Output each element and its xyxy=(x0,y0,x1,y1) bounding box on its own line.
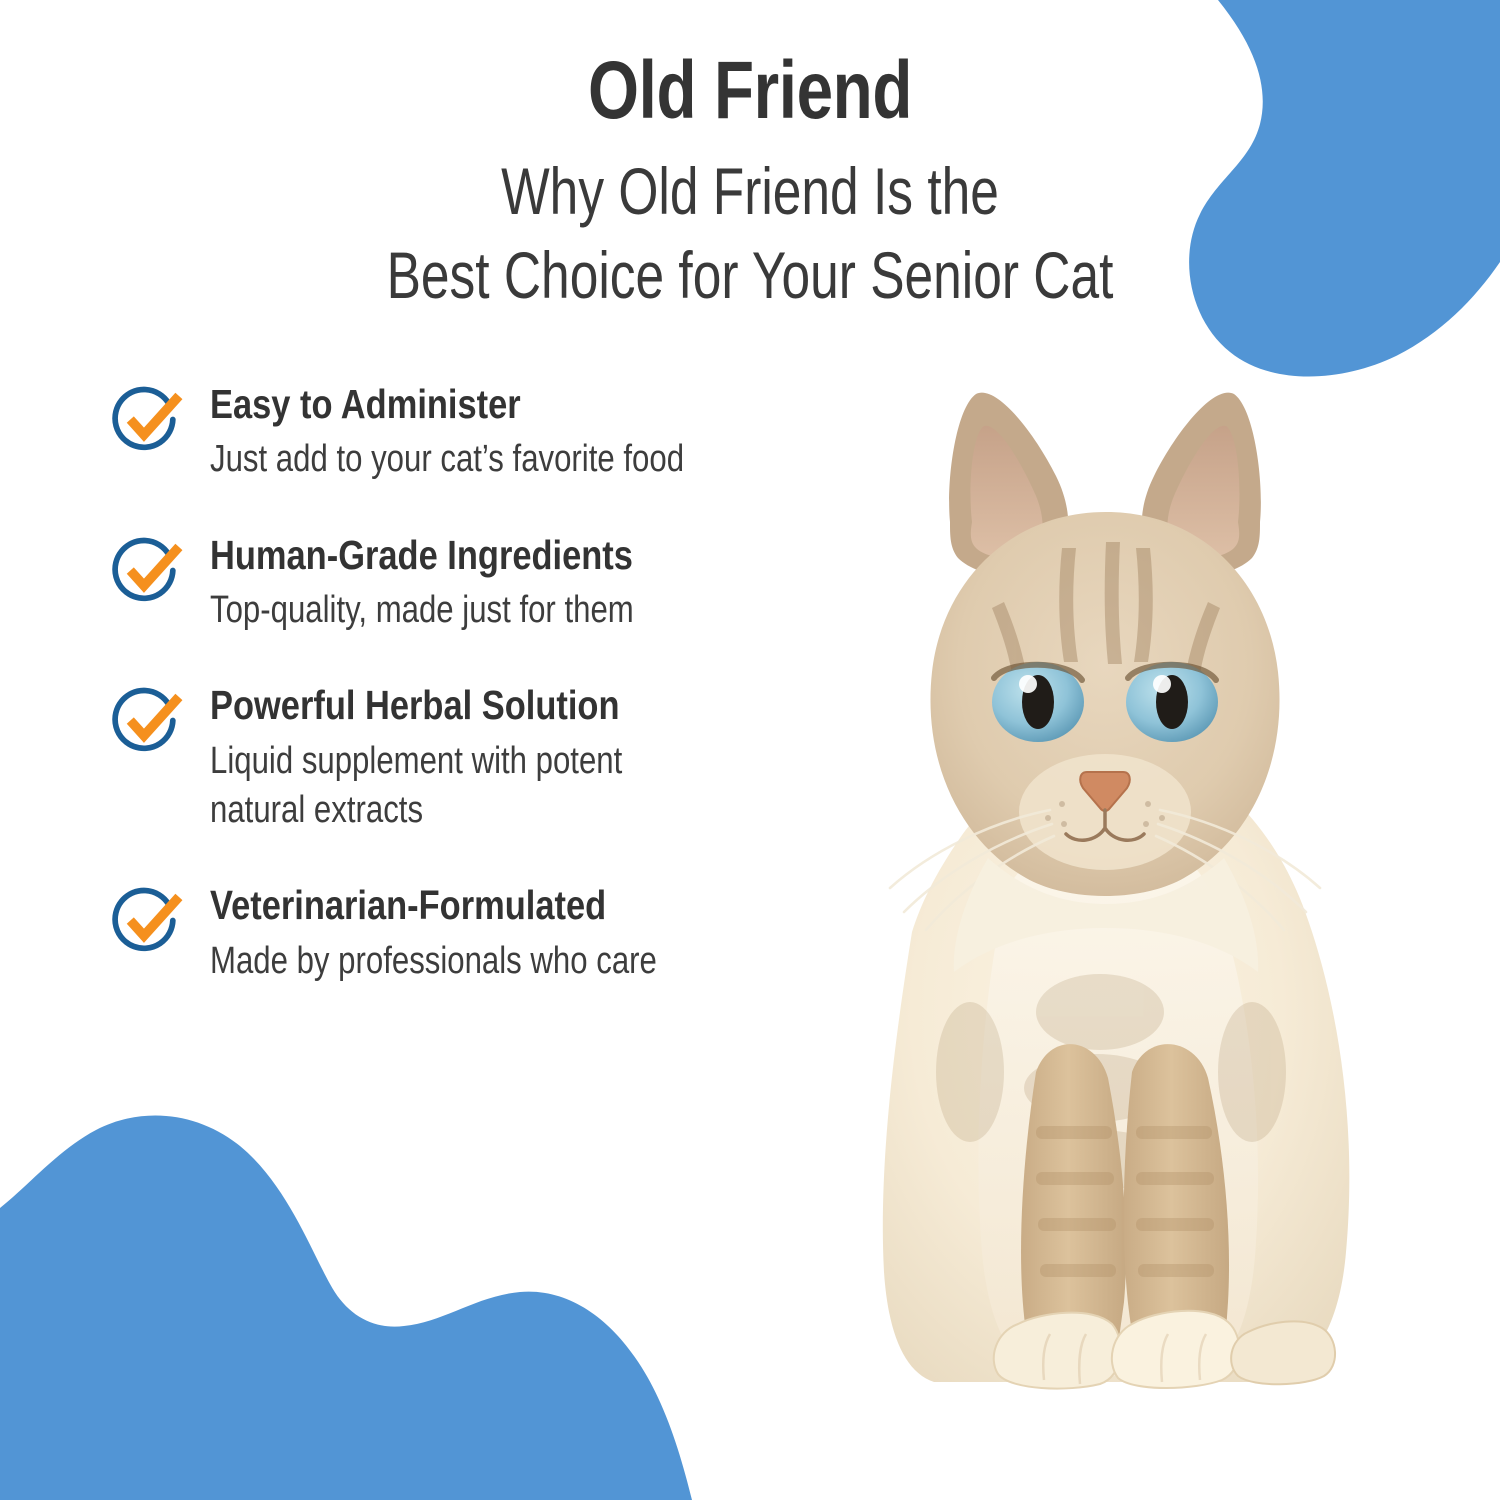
headline: Why Old Friend Is the Best Choice for Yo… xyxy=(165,149,1335,318)
benefit-text: Veterinarian-Formulated Made by professi… xyxy=(210,879,755,986)
cat-eye-right xyxy=(1126,662,1218,742)
check-circle-icon xyxy=(108,681,186,757)
benefit-text: Human-Grade Ingredients Top-quality, mad… xyxy=(210,529,727,636)
benefit-description: Top-quality, made just for them xyxy=(210,586,634,635)
benefit-item: Easy to Administer Just add to your cat’… xyxy=(108,378,808,485)
benefit-description: Just add to your cat’s favorite food xyxy=(210,435,684,484)
headline-line-1: Why Old Friend Is the xyxy=(165,149,1335,233)
brand-title: Old Friend xyxy=(150,52,1350,131)
benefit-title: Easy to Administer xyxy=(210,382,696,426)
benefit-item: Powerful Herbal Solution Liquid suppleme… xyxy=(108,679,808,835)
benefits-list: Easy to Administer Just add to your cat’… xyxy=(108,378,808,986)
bottom-left-blue-blob xyxy=(0,1115,692,1500)
check-circle-icon xyxy=(108,531,186,607)
infographic-canvas: Old Friend Why Old Friend Is the Best Ch… xyxy=(0,0,1500,1500)
cat-photo xyxy=(800,372,1420,1392)
benefit-title: Human-Grade Ingredients xyxy=(210,533,644,577)
benefit-text: Easy to Administer Just add to your cat’… xyxy=(210,378,788,485)
benefit-title: Powerful Herbal Solution xyxy=(210,683,712,727)
benefit-description: Made by professionals who care xyxy=(210,937,657,986)
benefit-item: Veterinarian-Formulated Made by professi… xyxy=(108,879,808,986)
header: Old Friend Why Old Friend Is the Best Ch… xyxy=(0,52,1500,318)
benefit-title: Veterinarian-Formulated xyxy=(210,883,668,927)
benefit-item: Human-Grade Ingredients Top-quality, mad… xyxy=(108,529,808,636)
check-circle-icon xyxy=(108,380,186,456)
headline-line-2: Best Choice for Your Senior Cat xyxy=(165,233,1335,317)
benefit-description: Liquid supplement with potent natural ex… xyxy=(210,737,700,836)
cat-eye-left xyxy=(992,662,1084,742)
benefit-text: Powerful Herbal Solution Liquid suppleme… xyxy=(210,679,808,835)
check-circle-icon xyxy=(108,881,186,957)
